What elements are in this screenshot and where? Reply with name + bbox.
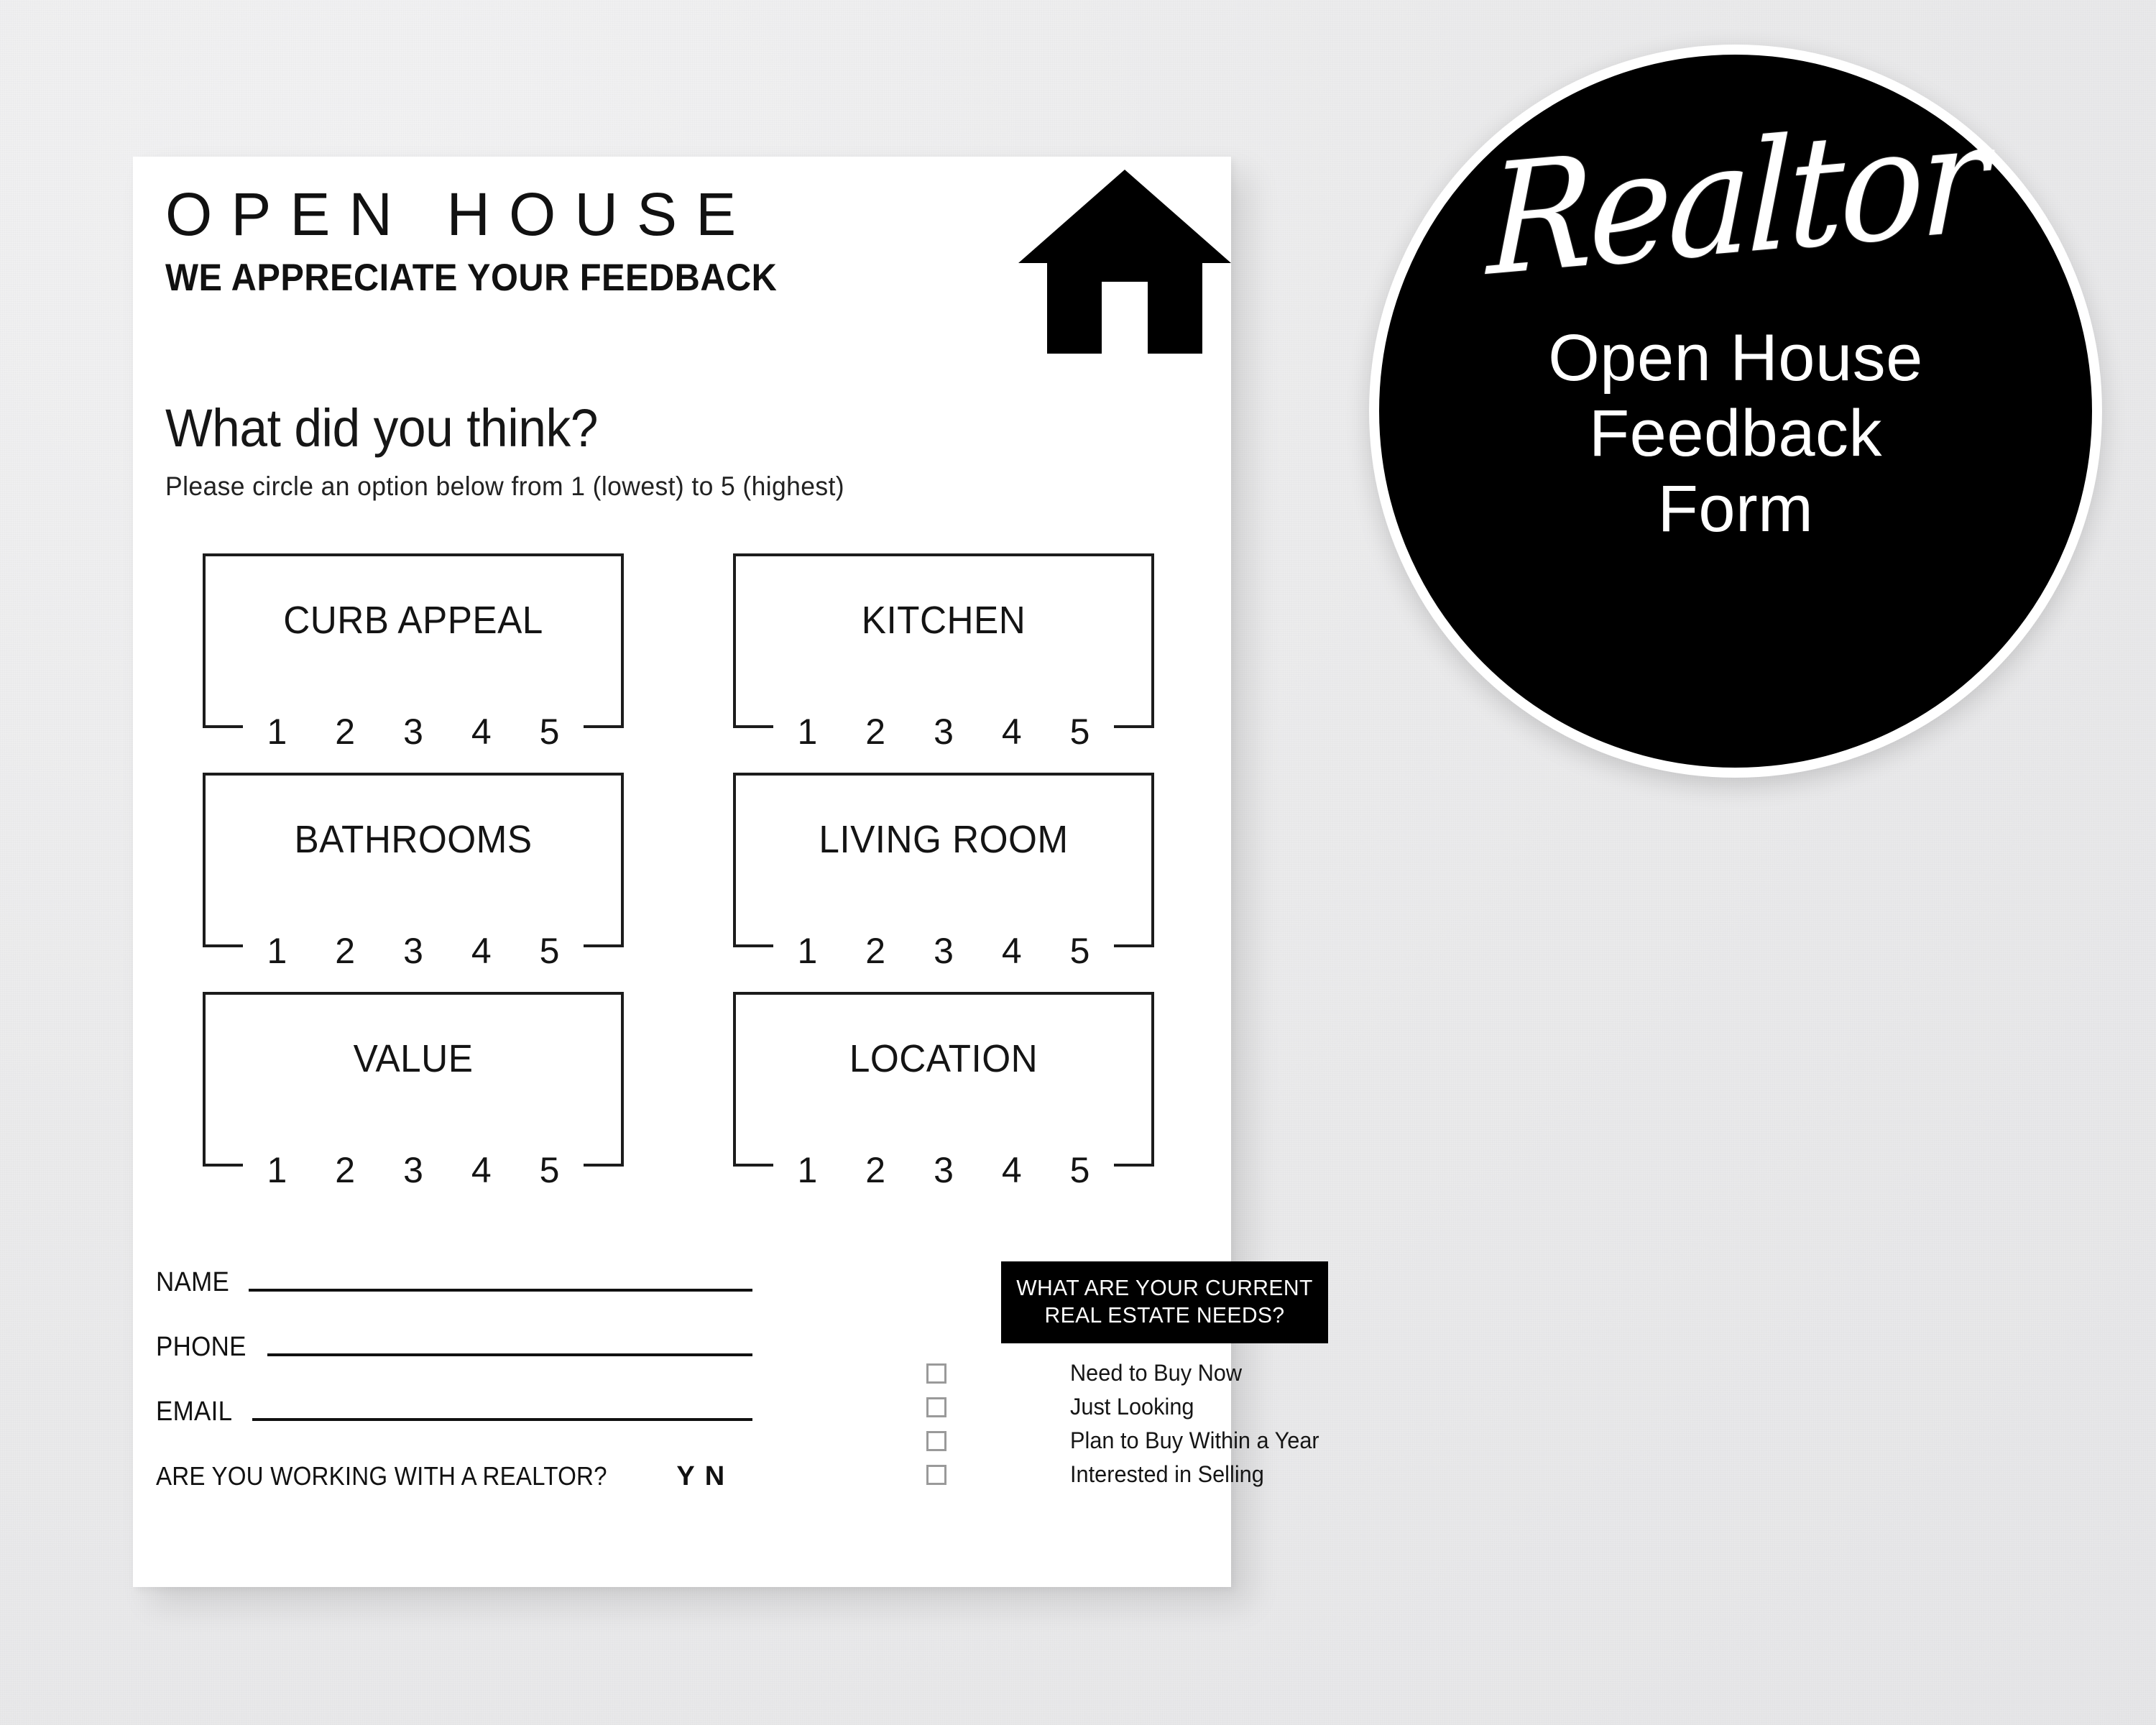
box-bottom-stub-right bbox=[1114, 725, 1151, 728]
current-needs-block: WHAT ARE YOUR CURRENT REAL ESTATE NEEDS?… bbox=[1001, 1261, 1328, 1343]
badge-caption: Open House Feedback Form bbox=[1548, 321, 1923, 547]
rating-option-3[interactable]: 3 bbox=[403, 933, 423, 969]
realtor-no-option[interactable]: N bbox=[705, 1461, 734, 1491]
realtor-question-row: ARE YOU WORKING WITH A REALTOR? YN bbox=[156, 1461, 752, 1492]
rating-label: LOCATION bbox=[746, 1036, 1141, 1081]
rating-option-2[interactable]: 2 bbox=[335, 1152, 355, 1188]
phone-input[interactable] bbox=[267, 1353, 752, 1356]
realtor-badge: Realtor Open House Feedback Form bbox=[1369, 45, 2102, 778]
realtor-question-label: ARE YOU WORKING WITH A REALTOR? bbox=[156, 1461, 607, 1491]
rating-label: LIVING ROOM bbox=[746, 817, 1141, 862]
rating-row: CURB APPEAL 1 2 3 4 5 KITCHEN 1 2 3 bbox=[203, 553, 1173, 728]
rating-option-5[interactable]: 5 bbox=[1070, 714, 1090, 750]
box-bottom-stub-left bbox=[206, 944, 243, 947]
rating-option-1[interactable]: 1 bbox=[797, 1152, 817, 1188]
needs-option-row[interactable]: Just Looking bbox=[1001, 1390, 1360, 1424]
page-title: What did you think? bbox=[165, 397, 598, 459]
needs-option-label: Interested in Selling bbox=[1070, 1461, 1264, 1488]
box-bottom-stub-left bbox=[736, 1164, 773, 1167]
box-bottom-stub-right bbox=[1114, 944, 1151, 947]
badge-caption-line2: Feedback bbox=[1548, 396, 1923, 471]
rating-label: VALUE bbox=[216, 1036, 610, 1081]
rating-label: BATHROOMS bbox=[216, 817, 610, 862]
badge-caption-line1: Open House bbox=[1548, 321, 1923, 396]
box-bottom-stub-left bbox=[206, 1164, 243, 1167]
needs-option-row[interactable]: Plan to Buy Within a Year bbox=[1001, 1424, 1360, 1458]
contact-fields: NAME PHONE EMAIL ARE YOU WORKING WITH A … bbox=[156, 1267, 752, 1492]
box-bottom-stub-left bbox=[736, 725, 773, 728]
rating-option-2[interactable]: 2 bbox=[865, 714, 885, 750]
email-label: EMAIL bbox=[156, 1397, 232, 1427]
needs-option-label: Plan to Buy Within a Year bbox=[1070, 1427, 1319, 1454]
rating-option-2[interactable]: 2 bbox=[335, 933, 355, 969]
needs-banner: WHAT ARE YOUR CURRENT REAL ESTATE NEEDS? bbox=[1001, 1261, 1328, 1343]
field-row-email[interactable]: EMAIL bbox=[156, 1397, 752, 1427]
rating-option-2[interactable]: 2 bbox=[865, 933, 885, 969]
rating-label: CURB APPEAL bbox=[216, 598, 610, 643]
box-bottom-stub-right bbox=[584, 725, 621, 728]
rating-option-4[interactable]: 4 bbox=[1002, 933, 1022, 969]
badge-caption-line3: Form bbox=[1548, 471, 1923, 547]
rating-box-value[interactable]: VALUE 1 2 3 4 5 bbox=[203, 992, 624, 1167]
realtor-yes-option[interactable]: Y bbox=[676, 1461, 704, 1491]
checkbox-just-looking[interactable] bbox=[926, 1397, 946, 1417]
rating-option-1[interactable]: 1 bbox=[797, 933, 817, 969]
box-bottom-stub-right bbox=[1114, 1164, 1151, 1167]
rating-scale[interactable]: 1 2 3 4 5 bbox=[773, 1152, 1114, 1188]
box-bottom-stub-left bbox=[736, 944, 773, 947]
rating-option-3[interactable]: 3 bbox=[934, 1152, 954, 1188]
rating-option-3[interactable]: 3 bbox=[934, 933, 954, 969]
rating-option-4[interactable]: 4 bbox=[1002, 1152, 1022, 1188]
rating-option-5[interactable]: 5 bbox=[540, 1152, 560, 1188]
rating-option-3[interactable]: 3 bbox=[403, 714, 423, 750]
needs-option-label: Need to Buy Now bbox=[1070, 1360, 1242, 1386]
rating-option-4[interactable]: 4 bbox=[1002, 714, 1022, 750]
checkbox-interested-in-selling[interactable] bbox=[926, 1465, 946, 1485]
needs-banner-line1: WHAT ARE YOUR CURRENT bbox=[1013, 1274, 1317, 1302]
rating-option-5[interactable]: 5 bbox=[1070, 933, 1090, 969]
rating-row: BATHROOMS 1 2 3 4 5 LIVING ROOM 1 2 bbox=[203, 773, 1173, 947]
rating-option-1[interactable]: 1 bbox=[267, 1152, 287, 1188]
rating-option-1[interactable]: 1 bbox=[267, 714, 287, 750]
box-bottom-stub-right bbox=[584, 944, 621, 947]
contact-and-needs-section: NAME PHONE EMAIL ARE YOU WORKING WITH A … bbox=[133, 1267, 1231, 1569]
rating-box-bathrooms[interactable]: BATHROOMS 1 2 3 4 5 bbox=[203, 773, 624, 947]
rating-grid: CURB APPEAL 1 2 3 4 5 KITCHEN 1 2 3 bbox=[203, 553, 1173, 1211]
name-label: NAME bbox=[156, 1267, 229, 1298]
rating-box-living-room[interactable]: LIVING ROOM 1 2 3 4 5 bbox=[733, 773, 1154, 947]
rating-box-curb-appeal[interactable]: CURB APPEAL 1 2 3 4 5 bbox=[203, 553, 624, 728]
rating-box-location[interactable]: LOCATION 1 2 3 4 5 bbox=[733, 992, 1154, 1167]
field-row-phone[interactable]: PHONE bbox=[156, 1332, 752, 1363]
phone-label: PHONE bbox=[156, 1332, 247, 1363]
instruction-text: Please circle an option below from 1 (lo… bbox=[165, 471, 844, 502]
box-bottom-stub-right bbox=[584, 1164, 621, 1167]
rating-option-1[interactable]: 1 bbox=[797, 714, 817, 750]
rating-scale[interactable]: 1 2 3 4 5 bbox=[773, 933, 1114, 969]
needs-options-list: Need to Buy Now Just Looking Plan to Buy… bbox=[1001, 1356, 1360, 1491]
rating-scale[interactable]: 1 2 3 4 5 bbox=[773, 714, 1114, 750]
field-row-name[interactable]: NAME bbox=[156, 1267, 752, 1298]
box-bottom-stub-left bbox=[206, 725, 243, 728]
rating-scale[interactable]: 1 2 3 4 5 bbox=[243, 1152, 584, 1188]
rating-row: VALUE 1 2 3 4 5 LOCATION 1 2 3 bbox=[203, 992, 1173, 1167]
checkbox-plan-to-buy-within-a-year[interactable] bbox=[926, 1431, 946, 1451]
needs-option-row[interactable]: Need to Buy Now bbox=[1001, 1356, 1360, 1390]
needs-option-row[interactable]: Interested in Selling bbox=[1001, 1458, 1360, 1491]
rating-option-3[interactable]: 3 bbox=[403, 1152, 423, 1188]
rating-option-4[interactable]: 4 bbox=[471, 933, 492, 969]
rating-label: KITCHEN bbox=[746, 598, 1141, 643]
rating-scale[interactable]: 1 2 3 4 5 bbox=[243, 714, 584, 750]
rating-option-3[interactable]: 3 bbox=[934, 714, 954, 750]
rating-option-5[interactable]: 5 bbox=[540, 933, 560, 969]
rating-option-5[interactable]: 5 bbox=[540, 714, 560, 750]
rating-option-2[interactable]: 2 bbox=[335, 714, 355, 750]
rating-box-kitchen[interactable]: KITCHEN 1 2 3 4 5 bbox=[733, 553, 1154, 728]
rating-option-5[interactable]: 5 bbox=[1070, 1152, 1090, 1188]
rating-option-2[interactable]: 2 bbox=[865, 1152, 885, 1188]
checkbox-need-to-buy-now[interactable] bbox=[926, 1363, 946, 1384]
rating-option-4[interactable]: 4 bbox=[471, 1152, 492, 1188]
rating-option-1[interactable]: 1 bbox=[267, 933, 287, 969]
email-input[interactable] bbox=[252, 1418, 752, 1421]
rating-scale[interactable]: 1 2 3 4 5 bbox=[243, 933, 584, 969]
form-subtitle: WE APPRECIATE YOUR FEEDBACK bbox=[165, 259, 1118, 297]
needs-banner-line2: REAL ESTATE NEEDS? bbox=[1013, 1302, 1317, 1329]
badge-script-word: Realtor bbox=[1487, 101, 1985, 298]
rating-option-4[interactable]: 4 bbox=[471, 714, 492, 750]
name-input[interactable] bbox=[249, 1289, 752, 1292]
feedback-form-sheet: OPEN HOUSE WE APPRECIATE YOUR FEEDBACK W… bbox=[133, 157, 1231, 1587]
house-icon bbox=[1017, 165, 1233, 358]
needs-option-label: Just Looking bbox=[1070, 1394, 1194, 1420]
realtor-yes-no-options[interactable]: YN bbox=[676, 1461, 734, 1492]
